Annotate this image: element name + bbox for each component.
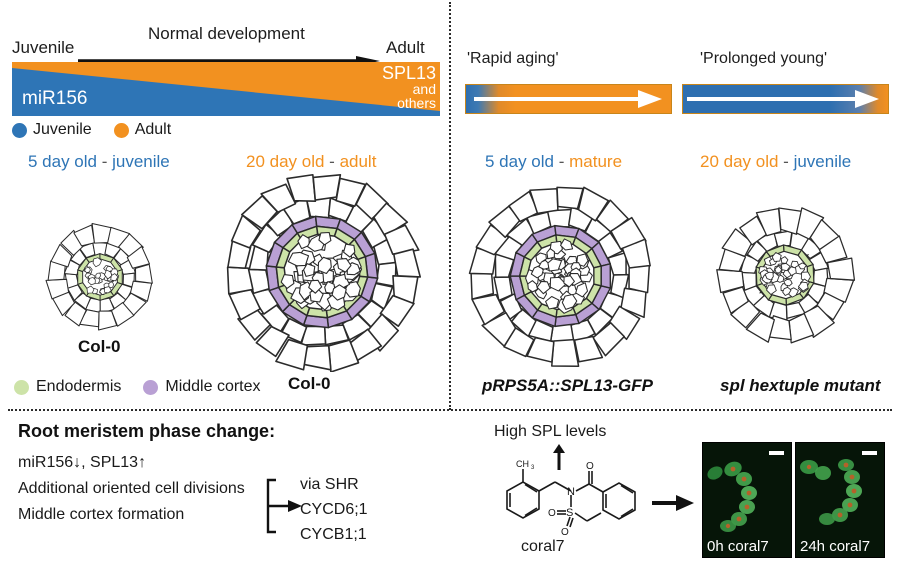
panel-1-dash: - [97,152,112,171]
micrograph-24h: 24h coral7 [795,442,885,558]
legend-label-endodermis: Endodermis [36,378,121,396]
micrograph-0h-caption: 0h coral7 [707,538,769,555]
panel-caption-3: 5 day old - mature [485,152,622,172]
root-cross-section-col0-juvenile [30,212,170,342]
panel-2-age: 20 day old [246,152,324,171]
spl13-main-text: SPL13 [382,63,436,83]
legend-dot-endodermis-icon [14,380,29,395]
bl-line-3: Middle cortex formation [18,502,245,528]
carbonyl-oxygen-label: O [586,461,594,472]
brace-arrow-icon [262,478,304,539]
nitrogen-atom-label: N [567,486,575,498]
rapid-aging-bar [465,84,672,114]
sulfur-atom-label: S [566,507,573,519]
mir156-label: miR156 [22,88,87,110]
legend-label-juvenile: Juvenile [33,121,92,139]
legend-dot-middle-cortex-icon [143,380,158,395]
genotype-label-1: Col-0 [78,337,121,357]
bl-line-1: miR156↓, SPL13↑ [18,450,245,476]
timeline-left-label: Juvenile [12,38,74,58]
compound-name-label: coral7 [521,538,565,556]
panel-caption-4: 20 day old - juvenile [700,152,851,172]
panel-4-dash: - [778,152,793,171]
panel-1-stage: juvenile [112,152,170,171]
prolonged-young-title: 'Prolonged young' [700,50,827,68]
root-cross-section-col0-adult [222,172,422,372]
bl-line-2: Additional oriented cell divisions [18,476,245,502]
panel-caption-1: 5 day old - juvenile [28,152,170,172]
target-2: CYCD6;1 [300,497,368,522]
bottom-left-heading: Root meristem phase change: [18,421,275,442]
prolonged-young-bar [682,84,889,114]
genotype-label-3: pRPS5A::SPL13-GFP [482,376,653,396]
tissue-legend: Endodermis Middle cortex [14,378,261,396]
legend-dot-adult-icon [114,123,129,138]
panel-2-stage: adult [340,152,377,171]
vertical-divider [449,2,451,410]
sulfonyl-oxygen-2-label: O [561,527,569,538]
panel-1-age: 5 day old [28,152,97,171]
coral7-structure-icon: CH 3 N S O O O [485,455,645,546]
sulfonyl-oxygen-1-label: O [548,508,556,519]
panel-3-stage: mature [569,152,622,171]
stage-legend: Juvenile Adult [12,121,171,139]
panel-3-dash: - [554,152,569,171]
timeline-title: Normal development [148,24,305,44]
spl13-sub-text: and others [376,82,436,110]
timeline-right-label: Adult [386,38,425,58]
horizontal-divider [8,409,892,411]
target-3: CYCB1;1 [300,522,368,547]
results-arrow-icon [652,495,694,516]
rapid-aging-title: 'Rapid aging' [467,50,559,68]
methyl-label: CH [516,459,529,469]
root-cross-section-spl-hextuple [706,196,864,354]
panel-4-age: 20 day old [700,152,778,171]
panel-4-stage: juvenile [794,152,852,171]
root-cross-section-spl13-gfp [466,182,656,370]
high-spl-levels-label: High SPL levels [494,423,606,441]
scale-bar-0h [769,451,784,455]
bottom-left-lines: miR156↓, SPL13↑ Additional oriented cell… [18,450,245,528]
panel-caption-2: 20 day old - adult [246,152,376,172]
genotype-label-4: spl hextuple mutant [720,376,881,396]
micrograph-24h-caption: 24h coral7 [800,538,870,555]
panel-3-age: 5 day old [485,152,554,171]
legend-label-adult: Adult [135,121,171,139]
micrograph-0h: 0h coral7 [702,442,792,558]
panel-2-dash: - [324,152,339,171]
legend-dot-juvenile-icon [12,123,27,138]
spl13-label: SPL13 and others [376,64,436,110]
svg-text:3: 3 [531,465,535,471]
legend-label-middle-cortex: Middle cortex [165,378,260,396]
genotype-label-2: Col-0 [288,374,331,394]
scale-bar-24h [862,451,877,455]
target-1: via SHR [300,472,368,497]
bottom-left-targets: via SHR CYCD6;1 CYCB1;1 [300,472,368,547]
